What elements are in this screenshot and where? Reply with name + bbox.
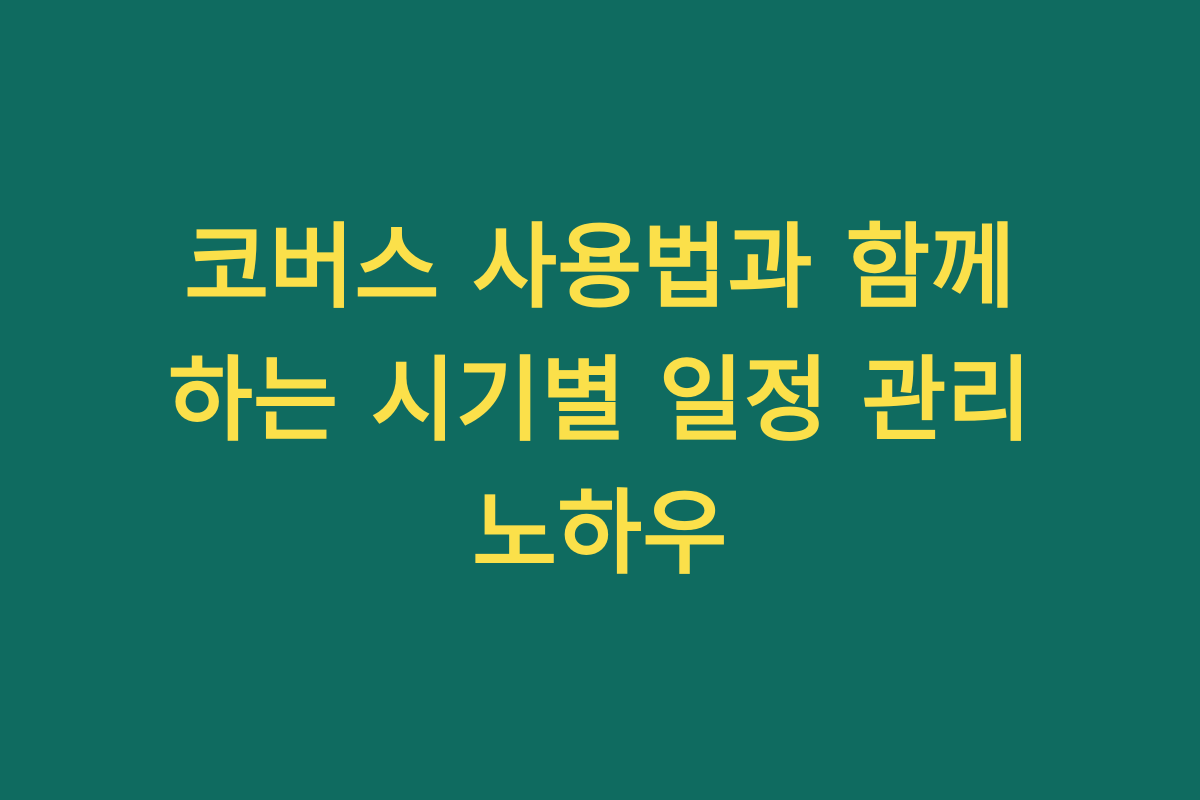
headline-line-3: 노하우: [70, 467, 1130, 600]
banner-background: 코버스 사용법과 함께 하는 시기별 일정 관리 노하우: [0, 0, 1200, 800]
headline-line-2: 하는 시기별 일정 관리: [70, 334, 1130, 467]
banner-headline: 코버스 사용법과 함께 하는 시기별 일정 관리 노하우: [70, 201, 1130, 600]
headline-line-1: 코버스 사용법과 함께: [70, 201, 1130, 334]
